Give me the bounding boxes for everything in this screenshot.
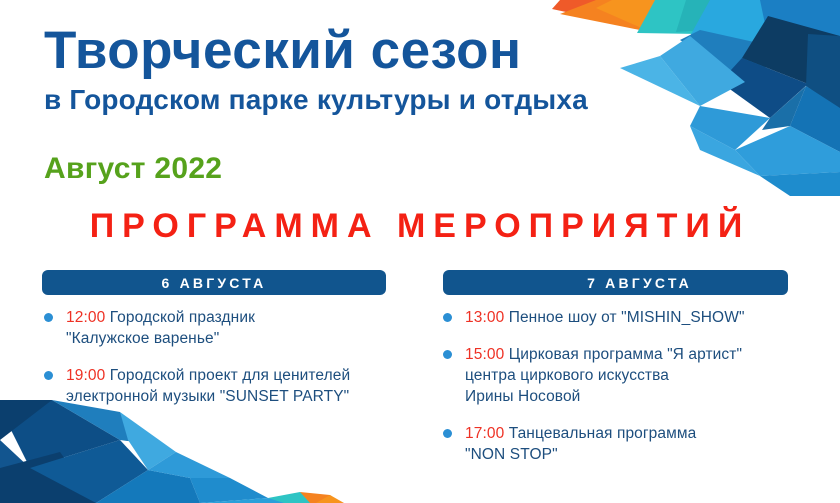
event-time: 12:00 xyxy=(66,309,110,326)
event-description: Городской проект для ценителей xyxy=(110,367,351,384)
bullet-icon xyxy=(44,371,53,380)
event-description: Городской праздник xyxy=(110,309,255,326)
event-time: 19:00 xyxy=(66,367,110,384)
deco-shape-orange-dark xyxy=(552,0,612,18)
deco-shape-bl-orange xyxy=(300,492,340,503)
event-time: 13:00 xyxy=(465,309,509,326)
day-header-label: 6 АВГУСТА xyxy=(162,275,267,291)
deco-shape-bl-light-b xyxy=(96,470,200,503)
deco-shape-bl-navy-c xyxy=(0,452,96,503)
event-description-line2: центра циркового искусства xyxy=(465,367,669,384)
event-description-line3: Ирины Носовой xyxy=(465,388,580,405)
headline-block: Творческий сезон в Городском парке культ… xyxy=(44,24,804,116)
list-item[interactable]: 13:00 Пенное шоу от "MISHIN_SHOW" xyxy=(443,307,828,328)
event-time: 17:00 xyxy=(465,425,509,442)
day-header-0: 6 АВГУСТА xyxy=(42,270,386,295)
deco-shape-bl-blue-c xyxy=(30,440,148,503)
month-label: Август 2022 xyxy=(44,152,222,186)
bullet-icon xyxy=(443,429,452,438)
day-header-label: 7 АВГУСТА xyxy=(587,275,692,291)
deco-shape-bl-light-e xyxy=(200,498,300,503)
event-time: 15:00 xyxy=(465,346,509,363)
deco-shape-blue-cap xyxy=(760,172,840,196)
page-subtitle: в Городском парке культуры и отдыха xyxy=(44,85,804,116)
page-title: Творческий сезон xyxy=(44,24,804,78)
program-heading: ПРОГРАММА МЕРОПРИЯТИЙ xyxy=(0,207,840,246)
deco-shape-blue-dark-b xyxy=(806,34,840,110)
list-item[interactable]: 17:00 Танцевальная программа "NON STOP" xyxy=(443,423,828,465)
deco-shape-bl-teal xyxy=(268,492,316,503)
bullet-icon xyxy=(443,350,452,359)
day-header-1: 7 АВГУСТА xyxy=(443,270,788,295)
deco-shape-blue-light-d xyxy=(735,126,840,176)
deco-shape-bl-orange2 xyxy=(316,495,344,503)
event-description-line2: электронной музыки "SUNSET PARTY" xyxy=(66,388,349,405)
list-item[interactable]: 12:00 Городской праздник "Калужское варе… xyxy=(44,307,414,349)
events-column-day-1: 13:00 Пенное шоу от "MISHIN_SHOW" 15:00 … xyxy=(443,307,828,481)
event-description: Танцевальная программа xyxy=(509,425,697,442)
events-column-day-0: 12:00 Городской праздник "Калужское варе… xyxy=(44,307,414,423)
list-item[interactable]: 19:00 Городской проект для ценителей эле… xyxy=(44,365,414,407)
event-description-line2: "Калужское варенье" xyxy=(66,330,219,347)
poster-canvas: Творческий сезон в Городском парке культ… xyxy=(0,0,840,503)
bullet-icon xyxy=(443,313,452,322)
deco-shape-bl-blue-b xyxy=(0,440,30,480)
event-description: Цирковая программа "Я артист" xyxy=(509,346,742,363)
list-item[interactable]: 15:00 Цирковая программа "Я артист" цент… xyxy=(443,344,828,407)
event-description-line2: "NON STOP" xyxy=(465,446,558,463)
deco-shape-blue-light-e xyxy=(690,126,760,176)
deco-shape-bl-light-c xyxy=(148,452,230,478)
bullet-icon xyxy=(44,313,53,322)
deco-shape-bl-light-d xyxy=(190,478,268,503)
event-description: Пенное шоу от "MISHIN_SHOW" xyxy=(509,309,745,326)
